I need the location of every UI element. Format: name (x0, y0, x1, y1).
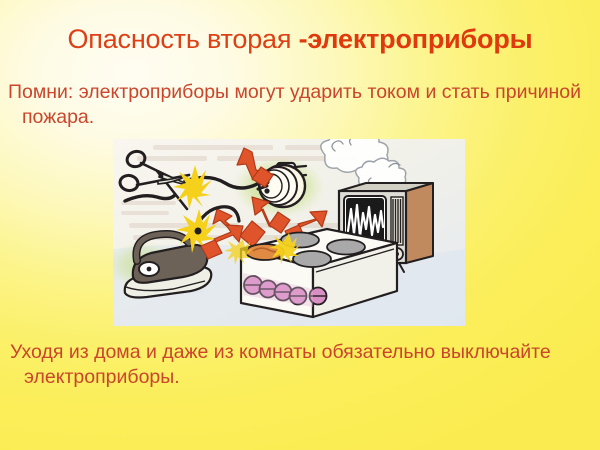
footer-paragraph: Уходя из дома и даже из комнаты обязател… (10, 340, 600, 390)
title-bold-part: -электроприборы (299, 24, 533, 54)
title-regular-part: Опасность вторая (68, 24, 299, 54)
illustration-image (113, 139, 465, 326)
page-title: Опасность вторая -электроприборы (0, 22, 600, 56)
stove-burner-4 (293, 251, 331, 267)
slide-canvas: Опасность вторая -электроприборы Помни: … (0, 0, 600, 450)
stove-burner-3 (327, 240, 365, 255)
lead-paragraph: Помни: электроприборы могут ударить токо… (8, 80, 600, 130)
iron-cord-break (195, 228, 202, 235)
